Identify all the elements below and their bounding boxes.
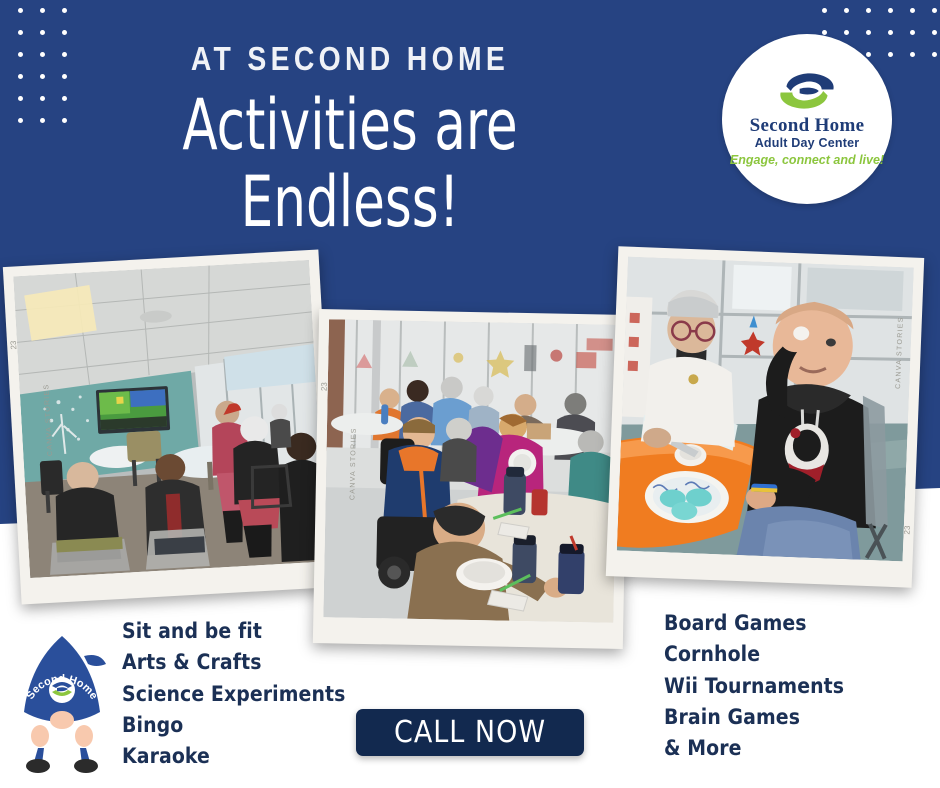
list-item: Science Experiments — [122, 679, 346, 710]
headline-block: AT SECOND HOME Activities are Endless! — [0, 40, 700, 236]
list-item: Sit and be fit — [122, 616, 346, 647]
eyebrow-text: AT SECOND HOME — [49, 40, 651, 78]
brand-logo-badge: Second Home Adult Day Center Engage, con… — [722, 34, 892, 204]
gnome-mascot: Second Home — [12, 630, 112, 775]
list-item: Bingo — [122, 710, 346, 741]
list-item: Board Games — [664, 608, 844, 639]
decorative-dot — [866, 52, 871, 57]
list-item: & More — [664, 733, 844, 764]
photo-activity-room: CANVA STORIES 23 — [3, 249, 337, 604]
decorative-dot — [910, 8, 915, 13]
title-line-2: Endless! — [63, 169, 637, 236]
photo-frame-number: 23 — [903, 526, 912, 535]
call-now-button[interactable]: CALL NOW — [356, 709, 584, 756]
decorative-dot — [40, 30, 45, 35]
photo-frame-number: 23 — [9, 341, 18, 350]
decorative-dot — [932, 52, 937, 57]
list-item: Wii Tournaments — [664, 671, 844, 702]
decorative-dot — [40, 8, 45, 13]
logo-name: Second Home — [750, 116, 865, 135]
decorative-dot — [910, 52, 915, 57]
logo-subtitle: Adult Day Center — [755, 135, 860, 153]
photo-activity-room-image — [13, 260, 325, 578]
poster-canvas: AT SECOND HOME Activities are Endless! S… — [0, 0, 940, 788]
photo-frame-number: 23 — [320, 383, 329, 392]
photo-dining-activity: CANVA STORIES 23 — [313, 309, 629, 649]
title-line-1: Activities are — [182, 84, 517, 166]
list-item: Karaoke — [122, 741, 346, 772]
list-item: Arts & Crafts — [122, 647, 346, 678]
decorative-dot — [932, 8, 937, 13]
photo-craft-table: CANVA STORIES 23 — [606, 246, 924, 588]
decorative-dot — [62, 8, 67, 13]
decorative-dot — [866, 8, 871, 13]
logo-tagline: Engage, connect and live! — [730, 152, 884, 170]
decorative-dot — [888, 30, 893, 35]
activities-list-left: Sit and be fit Arts & Crafts Science Exp… — [122, 616, 346, 772]
photo-strip-label: CANVA STORIES — [349, 427, 357, 500]
swoosh-icon — [770, 69, 844, 113]
decorative-dot — [62, 30, 67, 35]
decorative-dot — [18, 30, 23, 35]
decorative-dot — [888, 8, 893, 13]
decorative-dot — [822, 8, 827, 13]
activities-list-right: Board Games Cornhole Wii Tournaments Bra… — [664, 608, 844, 764]
photo-dining-activity-image — [323, 319, 619, 623]
decorative-dot — [844, 30, 849, 35]
page-title: Activities are Endless! — [63, 92, 637, 236]
photo-craft-table-image — [617, 257, 914, 562]
decorative-dot — [866, 30, 871, 35]
decorative-dot — [910, 30, 915, 35]
decorative-dot — [18, 8, 23, 13]
list-item: Cornhole — [664, 639, 844, 670]
list-item: Brain Games — [664, 702, 844, 733]
decorative-dot — [932, 30, 937, 35]
decorative-dot — [888, 52, 893, 57]
decorative-dot — [844, 8, 849, 13]
decorative-dot — [822, 30, 827, 35]
